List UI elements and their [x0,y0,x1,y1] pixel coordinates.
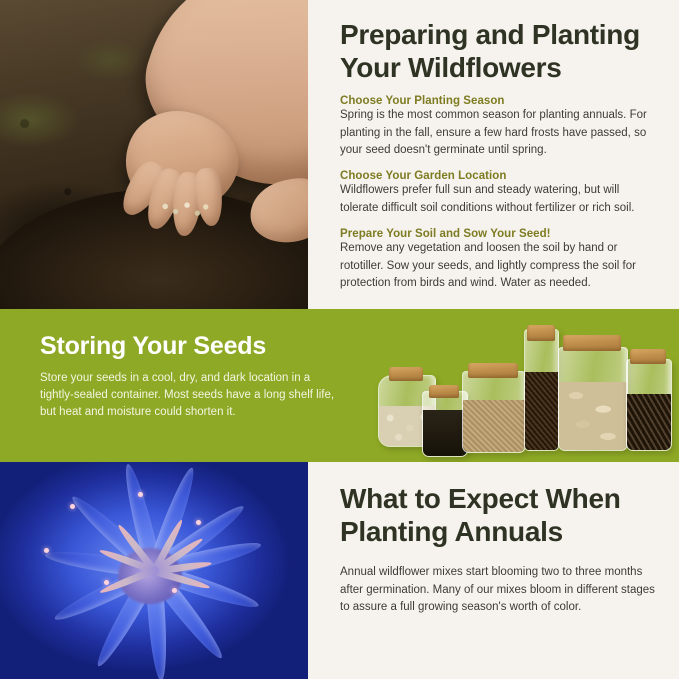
seed-jar [524,325,557,451]
preparing-text-column: Preparing and Planting Your Wildflowers … [340,0,660,309]
jar-seed-fill [525,372,558,450]
photo-seed-jars [378,317,668,457]
seed-jar [462,355,524,453]
section-preparing: Preparing and Planting Your Wildflowers … [0,0,679,309]
section-what-to-expect: What to Expect When Planting Annuals Ann… [0,462,679,679]
flower-highlight [138,492,143,497]
jar-seed-fill [423,410,467,456]
text-block-soil: Prepare Your Soil and Sow Your Seed! Rem… [340,228,660,292]
subheading-planting-season: Choose Your Planting Season [340,95,660,107]
text-block-location: Choose Your Garden Location Wildflowers … [340,170,660,217]
flower-highlight [104,580,109,585]
jar-seed-fill [559,382,627,450]
jar-glass [558,347,628,451]
photo-hand-sowing-seeds [0,0,308,309]
body-storing-your-seeds: Store your seeds in a cool, dry, and dar… [40,370,340,422]
seeds-in-hand [160,196,212,222]
body-what-to-expect: Annual wildflower mixes start blooming t… [340,564,660,616]
jar-seed-fill [463,400,525,452]
jar-glass [626,359,672,451]
subheading-garden-location: Choose Your Garden Location [340,170,660,182]
cork-stopper-icon [630,349,666,364]
flower-highlight [196,520,201,525]
heading-storing-your-seeds: Storing Your Seeds [40,333,340,361]
body-prepare-soil: Remove any vegetation and loosen the soi… [340,240,660,292]
seed-jar [558,333,626,451]
subheading-prepare-soil: Prepare Your Soil and Sow Your Seed! [340,228,660,240]
text-block-season: Choose Your Planting Season Spring is th… [340,95,660,159]
section-storing-seeds: Storing Your Seeds Store your seeds in a… [0,309,679,462]
heading-what-to-expect: What to Expect When Planting Annuals [340,462,660,548]
cork-stopper-icon [389,367,423,381]
cork-stopper-icon [429,385,459,398]
body-planting-season: Spring is the most common season for pla… [340,107,660,159]
infographic-page: Preparing and Planting Your Wildflowers … [0,0,679,679]
jar-glass [462,371,526,453]
jar-glass [524,329,559,451]
cork-stopper-icon [527,325,555,341]
flower-highlight [44,548,49,553]
jar-seed-fill [627,394,671,450]
cork-stopper-icon [468,363,518,378]
photo-blue-cornflower [0,462,308,679]
seed-jar [422,381,466,457]
expect-text-column: What to Expect When Planting Annuals Ann… [340,462,660,616]
storing-text-column: Storing Your Seeds Store your seeds in a… [40,333,340,422]
seed-jar [626,347,670,451]
page-title: Preparing and Planting Your Wildflowers [340,0,660,84]
flower-highlight [172,588,177,593]
flower-highlight [70,504,75,509]
cork-stopper-icon [563,335,621,351]
body-garden-location: Wildflowers prefer full sun and steady w… [340,182,660,217]
